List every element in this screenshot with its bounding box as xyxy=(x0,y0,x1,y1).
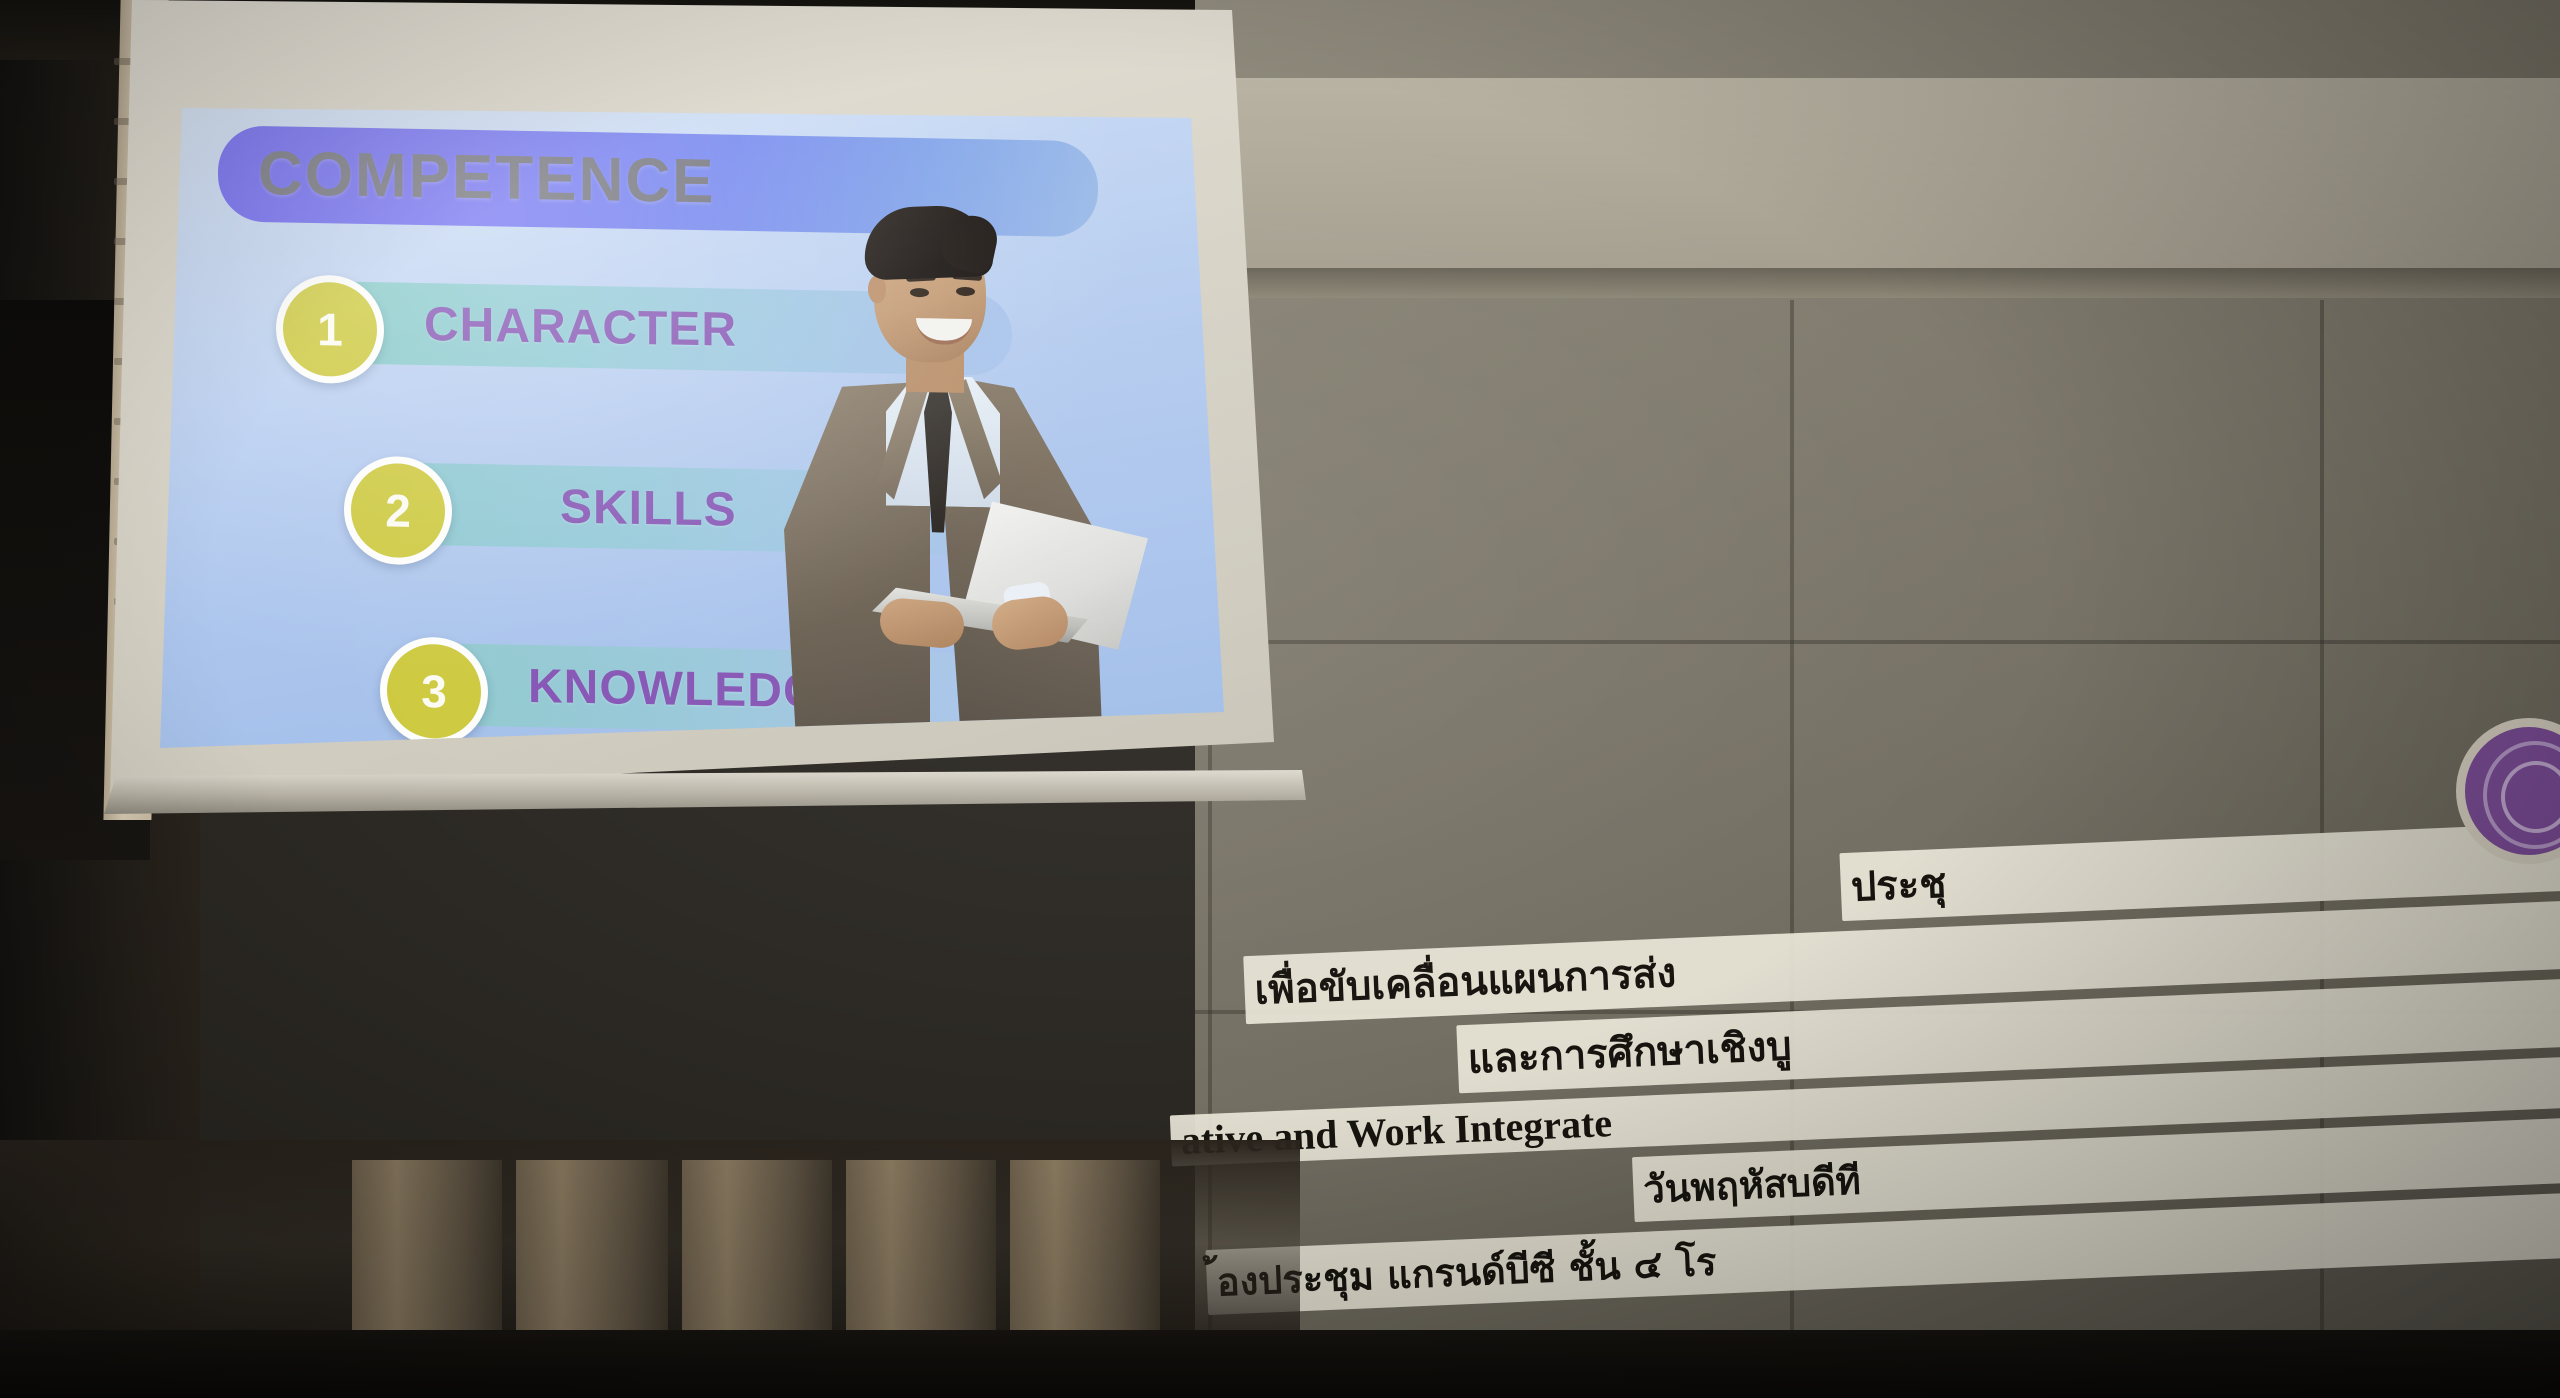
floor-shadow xyxy=(0,1330,2560,1398)
page-title: COMPETENCE xyxy=(258,138,715,217)
item-number-badge: 3 xyxy=(380,636,488,746)
wall-signage: ประชุ เพื่อขับเคลื่อนแผนการส่ง และการศึก… xyxy=(1200,823,2560,1300)
hand-left xyxy=(878,597,965,650)
businessman-photo xyxy=(756,197,1136,768)
wall-seam xyxy=(1195,640,2560,644)
item-label: SKILLS xyxy=(560,480,737,538)
item-number: 2 xyxy=(385,487,411,533)
slide-canvas: COMPETENCE 1 CHARACTER 2 SKILLS xyxy=(160,90,1230,770)
item-number-badge: 1 xyxy=(276,274,384,384)
screen-roller-bar xyxy=(96,770,1306,814)
right-wall-band xyxy=(1195,268,2560,298)
item-number: 1 xyxy=(317,306,343,352)
item-label: CHARACTER xyxy=(424,297,737,358)
eye xyxy=(910,288,929,297)
right-wall-upper-panel xyxy=(1195,78,2560,278)
item-number: 3 xyxy=(421,668,447,714)
room-scene: COMPETENCE 1 CHARACTER 2 SKILLS xyxy=(0,0,2560,1398)
projected-slide: COMPETENCE 1 CHARACTER 2 SKILLS xyxy=(36,0,1281,810)
projector-screen: COMPETENCE 1 CHARACTER 2 SKILLS xyxy=(36,0,1286,820)
eye xyxy=(956,287,975,296)
item-number-badge: 2 xyxy=(344,456,452,566)
